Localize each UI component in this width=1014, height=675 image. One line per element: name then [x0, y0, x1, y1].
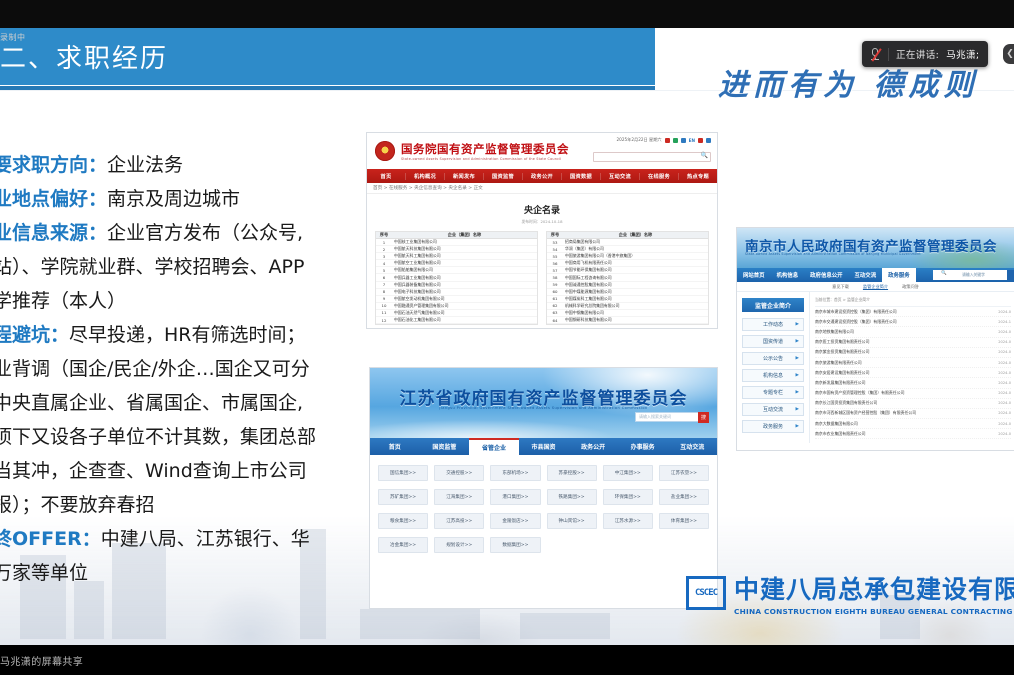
bullet-rest: 企业官方发布（公众号,: [107, 222, 303, 244]
enterprise-chip[interactable]: 铁路集团>>: [547, 489, 597, 505]
bullet-rest: 为中央直属企业、省属国企、市属国企,: [0, 392, 303, 414]
table-row: 8中国电子科技集团有限公司: [376, 289, 537, 296]
bullet-line: 为中央直属企业、省属国企、市属国企,: [0, 386, 374, 420]
cell-name: 中国中煤能源集团有限公司: [563, 289, 708, 295]
mic-muted-icon[interactable]: [870, 47, 881, 62]
bullet-rest: 尽早投递，HR有筛选时间；: [69, 324, 306, 346]
slide-title-bar: 二、求职经历: [0, 28, 655, 85]
cell-name: 中国诚通控股集团有限公司: [563, 282, 708, 288]
nanjing-banner: 南京市人民政府国有资产监督管理委员会 State-owned Assets Su…: [737, 228, 1014, 268]
enterprise-chip[interactable]: 东部机场>>: [490, 465, 540, 481]
cell-name: 中国核工业集团有限公司: [392, 239, 537, 245]
sasac-title-cn: 国务院国有资产监督管理委员会: [401, 141, 569, 157]
list-item[interactable]: 南京市河西新城区国有资产经营控股（集团）有限责任公司2024-0: [815, 409, 1011, 419]
bullet-lead: 就业信息来源：: [0, 222, 107, 244]
enterprise-chip[interactable]: 中江集团>>: [603, 465, 653, 481]
bullet-line: 其项下又设各子单位不计其数，集团总部: [0, 420, 374, 454]
enterprise-chip[interactable]: 钟山宾馆>>: [547, 513, 597, 529]
list-item[interactable]: 南京长江国资投资集团有限责任公司2024-0: [815, 399, 1011, 409]
sidebar-item-label: 公示公告: [763, 355, 783, 362]
cell-index: 60: [547, 289, 563, 294]
table-row: 62机械科学研究总院集团有限公司: [547, 303, 708, 310]
bullet-lead: 就业地点偏好：: [0, 188, 107, 210]
bullet-line: 主要求职方向：企业法务: [0, 148, 374, 182]
list-item-date: 2024-0: [996, 391, 1011, 395]
cell-name: 中国钢研科技集团有限公司: [563, 317, 708, 323]
sidebar-item[interactable]: 国资传道▶: [742, 335, 804, 348]
table-row: 6中国兵器工业集团有限公司: [376, 274, 537, 281]
list-item-title: 南京医工投资集团有限责任公司: [815, 339, 996, 345]
bullet-rest: 润万家等单位: [0, 562, 88, 584]
list-item-title: 南京旅游集团有限责任公司: [815, 360, 996, 366]
list-item[interactable]: 南京市交通建设投资控股（集团）有限责任公司2024-1: [815, 317, 1011, 327]
bullet-rest: 年报）；不要放弃春招: [0, 494, 155, 516]
cell-name: 中国旅游集团有限公司（香港中旅集团）: [563, 253, 708, 259]
bullet-rest: 企业法务: [107, 154, 183, 176]
table-row: 12中国石油化工集团有限公司: [376, 317, 537, 324]
speaking-label: 正在讲话:: [896, 47, 939, 61]
cell-index: 55: [547, 254, 563, 259]
cell-index: 62: [547, 303, 563, 308]
nanjing-nav[interactable]: 网站首页 机构信息 政府信息公开 互动交流 政务服务 🔍 请输入关键字: [737, 268, 1014, 282]
cell-index: 6: [376, 275, 392, 280]
sidebar-item-label: 国资传道: [763, 338, 783, 345]
table-row: 63中国中钢集团有限公司: [547, 310, 708, 317]
list-item-date: 2024-0: [996, 371, 1011, 375]
search-submit-button[interactable]: [1007, 270, 1014, 280]
list-item-title: 南京市国有资产投资管理控股（集团）有限责任公司: [815, 390, 996, 396]
sasac-title-en: State-owned Assets Supervision and Admin…: [401, 157, 569, 161]
cell-index: 11: [376, 310, 392, 315]
table-row: 60中国中煤能源集团有限公司: [547, 289, 708, 296]
cscec-logo-icon: CSCEC: [686, 576, 726, 610]
cell-index: 5: [376, 268, 392, 273]
list-item-title: 南京新发展集团有限责任公司: [815, 380, 996, 386]
active-speaker-pill: 正在讲话: 马兆潇;: [862, 41, 988, 67]
chevron-right-icon: ▶: [796, 407, 799, 412]
list-item-date: 2024-0: [996, 432, 1011, 436]
enterprise-chip[interactable]: 江苏农垦>>: [659, 465, 709, 481]
enterprise-chip[interactable]: 港口集团>>: [490, 489, 540, 505]
enterprise-chip[interactable]: 数据集团>>: [490, 537, 540, 553]
cell-index: 61: [547, 296, 563, 301]
cell-index: 1: [376, 240, 392, 245]
search-icon: 🔍: [935, 271, 953, 276]
nanjing-sublink[interactable]: 意见下载: [832, 284, 849, 290]
cell-name: 中国煤炭科工集团有限公司: [563, 296, 708, 302]
bullet-line: 过程避坑：尽早投递，HR有筛选时间；: [0, 318, 374, 352]
enterprise-chip[interactable]: 金陵饭店>>: [490, 513, 540, 529]
list-item[interactable]: 南京地铁集团有限公司2024-0: [815, 327, 1011, 337]
cell-name: 华润（集团）有限公司: [563, 246, 708, 252]
bullet-lead: 过程避坑：: [0, 324, 69, 346]
cell-index: 58: [547, 275, 563, 280]
list-item[interactable]: 南京紫金投资集团有限责任公司2024-0: [815, 348, 1011, 358]
list-item-date: 2024-0: [996, 350, 1011, 354]
nanjing-nav-item[interactable]: 政府信息公开: [804, 268, 848, 282]
cell-index: 12: [376, 318, 392, 323]
search-button[interactable]: 搜: [698, 412, 709, 423]
cell-name: 中国电子科技集团有限公司: [392, 289, 537, 295]
screenshot-jiangsu-sasac: 江苏省政府国有资产监督管理委员会 Jiangsu Provincial Gove…: [370, 368, 717, 608]
list-item-title: 南京紫金投资集团有限责任公司: [815, 349, 996, 355]
list-item-title: 南京市农业集团有限责任公司: [815, 431, 996, 437]
sidebar-item-label: 互动交流: [763, 406, 783, 413]
enterprise-chip[interactable]: 体育集团>>: [659, 513, 709, 529]
cell-index: 3: [376, 254, 392, 259]
bullet-lead: 主要求职方向：: [0, 154, 107, 176]
table-row: 61中国煤炭科工集团有限公司: [547, 296, 708, 303]
list-item-title: 南京地铁集团有限公司: [815, 329, 996, 335]
cell-index: 56: [547, 261, 563, 266]
cell-name: 中国石油天然气集团有限公司: [392, 310, 537, 316]
enterprise-chip[interactable]: 规划设计>>: [434, 537, 484, 553]
list-item-date: 2024-0: [996, 330, 1011, 334]
bullet-line: 年报）；不要放弃春招: [0, 488, 374, 522]
cell-name: 招商局集团有限公司: [563, 239, 708, 245]
chevron-right-icon: ▶: [796, 339, 799, 344]
cell-index: 7: [376, 282, 392, 287]
sasac-nav-item[interactable]: 热点专题: [679, 173, 717, 180]
table-row: 5中国船舶集团有限公司: [376, 267, 537, 274]
bullet-rest: 其项下又设各子单位不计其数，集团总部: [0, 426, 316, 448]
sidebar-item-label: 机构信息: [763, 372, 783, 379]
chevron-right-icon: ▶: [796, 356, 799, 361]
table-row: 3中国航天科工集团有限公司: [376, 253, 537, 260]
bullet-rest: 首当其冲，企查查、Wind查询上市公司: [0, 460, 307, 482]
bullet-line: 最终OFFER：中建八局、江苏银行、华: [0, 522, 374, 556]
list-item-date: 2024-0: [996, 340, 1011, 344]
nanjing-nav-item-active[interactable]: 政务服务: [882, 268, 916, 282]
jiangsu-title-en: Jiangsu Provincial Government State-owne…: [370, 406, 717, 410]
cscec-name-cn: 中建八局总承包建设有限公司: [734, 570, 1014, 606]
bullet-line: 润万家等单位: [0, 556, 374, 590]
jiangsu-nav[interactable]: 首页 国资监管 省管企业 市县国资 政务公开 办事服务 互动交流: [370, 438, 717, 455]
list-item-date: 2024-0: [996, 422, 1011, 426]
table-header: 序号 企业（集团）名称: [376, 232, 537, 239]
enterprise-chip[interactable]: 盐业集团>>: [659, 489, 709, 505]
chevron-right-icon: ▶: [796, 322, 799, 327]
table-header: 序号 企业（集团）名称: [547, 232, 708, 239]
table-row: 4中国航空工业集团有限公司: [376, 260, 537, 267]
search-placeholder: 请输入关键字: [953, 272, 991, 278]
bullet-line: 就业信息来源：企业官方发布（公众号,: [0, 216, 374, 250]
bullet-rest: 企业背调（国企/民企/外企…国企又可分: [0, 358, 310, 380]
enterprise-chip[interactable]: 粮食集团>>: [378, 513, 428, 529]
shared-slide-viewport: 二、求职经历 进而有为 德成则 主要求职方向：企业法务 就业地点偏好：南京及周边…: [0, 28, 1014, 645]
table-row: 10中国融通资产管理集团有限公司: [376, 303, 537, 310]
list-item-date: 2024-0: [996, 310, 1011, 314]
sasac-doc-title: 央企名录: [367, 203, 717, 216]
cell-name: 中国商用飞机有限责任公司: [563, 260, 708, 266]
speaker-name: 马兆潇;: [946, 47, 979, 61]
central-enterprise-table-right: 序号 企业（集团）名称 53招商局集团有限公司 54华润（集团）有限公司 55中…: [546, 231, 709, 325]
cell-name: 中国融通资产管理集团有限公司: [392, 303, 537, 309]
nanjing-sublink[interactable]: 政策问答: [902, 284, 919, 290]
breadcrumb: 当前位置：首页 > 监管企业简介: [815, 297, 1011, 307]
accessibility-icon[interactable]: [706, 138, 711, 143]
cell-index: 4: [376, 261, 392, 266]
list-item-title: 南京大数据集团有限公司: [815, 421, 996, 427]
sidebar-header: 监管企业简介: [742, 298, 804, 312]
bullet-rest: 网站）、学院就业群、学校招聘会、APP: [0, 256, 304, 278]
jiangsu-nav-item[interactable]: 办事服务: [618, 438, 668, 455]
enterprise-chip[interactable]: 环保集团>>: [603, 489, 653, 505]
nanjing-nav-item[interactable]: 机构信息: [771, 268, 805, 282]
national-emblem-icon: [375, 141, 395, 161]
bullet-line: 就业地点偏好：南京及周边城市: [0, 182, 374, 216]
list-item-date: 2024-1: [996, 320, 1011, 324]
enterprise-chip[interactable]: 苏矿集团>>: [378, 489, 428, 505]
jiangsu-nav-item[interactable]: 市县国资: [519, 438, 569, 455]
sasac-nav-item[interactable]: 机构概况: [406, 173, 445, 180]
sasac-nav-item[interactable]: 国资数据: [562, 173, 601, 180]
sidebar-item[interactable]: 政务服务▶: [742, 420, 804, 433]
list-item-title: 南京安居建设集团有限责任公司: [815, 370, 996, 376]
chevron-right-icon: ▶: [796, 390, 799, 395]
screenshot-nanjing-sasac: 南京市人民政府国有资产监督管理委员会 State-owned Assets Su…: [737, 228, 1014, 450]
table-row: 2中国航天科技集团有限公司: [376, 246, 537, 253]
cell-index: 54: [547, 247, 563, 252]
weibo-icon[interactable]: [673, 138, 678, 143]
nanjing-sublinks: 意见下载 监管企业简介 政策问答: [737, 282, 1014, 292]
table-row: 1中国核工业集团有限公司: [376, 239, 537, 246]
app-icon[interactable]: [681, 138, 686, 143]
jiangsu-nav-item[interactable]: 政务公开: [568, 438, 618, 455]
cell-name: 中国航空发动机集团有限公司: [392, 296, 537, 302]
cell-name: 中国国际工程咨询有限公司: [563, 275, 708, 281]
column-header-name: 企业（集团）名称: [563, 232, 708, 238]
jiangsu-banner: 江苏省政府国有资产监督管理委员会 Jiangsu Provincial Gove…: [370, 368, 717, 438]
meeting-window: 二、求职经历 进而有为 德成则 主要求职方向：企业法务 就业地点偏好：南京及周边…: [0, 0, 1014, 675]
list-item-title: 南京市河西新城区国有资产经营控股（集团）有限责任公司: [815, 410, 996, 416]
enterprise-chip[interactable]: 江苏高投>>: [434, 513, 484, 529]
breadcrumb: 首页 > 在线服务 > 央企信息查询 > 央企名录 > 正文: [367, 183, 717, 194]
list-item-title: 南京市城市建设投资控股（集团）有限责任公司: [815, 309, 996, 315]
list-item[interactable]: 南京旅游集团有限责任公司2024-0: [815, 358, 1011, 368]
cell-index: 64: [547, 318, 563, 323]
cscec-name-en: CHINA CONSTRUCTION EIGHTH BUREAU GENERAL…: [734, 607, 1014, 616]
list-item[interactable]: 南京市农业集团有限责任公司2024-0: [815, 429, 1011, 439]
column-header-index: 序号: [376, 232, 392, 238]
cell-index: 53: [547, 240, 563, 245]
bullet-lead: 最终OFFER：: [0, 528, 101, 550]
table-row: 64中国钢研科技集团有限公司: [547, 317, 708, 324]
sasac-nav-item[interactable]: 新闻发布: [445, 173, 484, 180]
bullet-line: 网站）、学院就业群、学校招聘会、APP: [0, 250, 374, 284]
chevron-right-icon: ▶: [796, 424, 799, 429]
column-header-name: 企业（集团）名称: [392, 232, 537, 238]
calligraphy-banner: 进而有为 德成则: [718, 60, 1014, 108]
search-placeholder: 请输入搜索关键词: [636, 414, 671, 420]
sidebar-item[interactable]: 公示公告▶: [742, 352, 804, 365]
cell-name: 机械科学研究总院集团有限公司: [563, 303, 708, 309]
screen-share-footer: 马兆潇的屏幕共享: [0, 645, 1014, 675]
sidebar-item-label: 政务服务: [763, 423, 783, 430]
cell-name: 中国兵器装备集团有限公司: [392, 282, 537, 288]
bullet-line: 同学推荐（本人）: [0, 284, 374, 318]
table-row: 53招商局集团有限公司: [547, 239, 708, 246]
enterprise-chip[interactable]: 江海集团>>: [434, 489, 484, 505]
table-row: 59中国诚通控股集团有限公司: [547, 282, 708, 289]
share-footer-label: 马兆潇的屏幕共享: [0, 653, 83, 668]
cscec-company-band: CSCEC 中建八局总承包建设有限公司 CHINA CONSTRUCTION E…: [686, 567, 1014, 619]
bullet-line: 企业背调（国企/民企/外企…国企又可分: [0, 352, 374, 386]
cell-name: 中国中钢集团有限公司: [563, 310, 708, 316]
nanjing-title-en: State-owned Assets Supervision and Admin…: [745, 252, 921, 256]
jiangsu-nav-item-active[interactable]: 省管企业: [469, 438, 519, 455]
table-row: 11中国石油天然气集团有限公司: [376, 310, 537, 317]
table-row: 7中国兵器装备集团有限公司: [376, 282, 537, 289]
sasac-nav-item[interactable]: 互动交流: [601, 173, 640, 180]
sidebar-item-label: 专题专栏: [763, 389, 783, 396]
sasac-nav-item[interactable]: 政务公开: [523, 173, 562, 180]
screenshot-sasac-central-enterprise-list: 国务院国有资产监督管理委员会 State-owned Assets Superv…: [367, 133, 717, 328]
cell-name: 中国航天科技集团有限公司: [392, 246, 537, 252]
cell-index: 57: [547, 268, 563, 273]
list-item-date: 2024-0: [996, 411, 1011, 415]
sasac-date: 2025年2月22日 星期六: [617, 137, 662, 143]
sasac-nav-item[interactable]: 在线服务: [640, 173, 679, 180]
list-item[interactable]: 南京大数据集团有限公司2024-0: [815, 419, 1011, 429]
table-row: 54华润（集团）有限公司: [547, 246, 708, 253]
collapse-panel-button[interactable]: ❮: [1003, 44, 1014, 64]
cell-name: 中国石油化工集团有限公司: [392, 317, 537, 323]
bullet-rest: 中建八局、江苏银行、华: [101, 528, 310, 550]
jiangsu-enterprise-chip-grid: 国信集团>> 交通控股>> 东部机场>> 苏豪控股>> 中江集团>> 江苏农垦>…: [370, 455, 717, 563]
jiangsu-nav-item-home[interactable]: 首页: [370, 438, 420, 455]
sidebar-item-label: 工作动态: [763, 321, 783, 328]
cell-index: 10: [376, 303, 392, 308]
language-toggle[interactable]: EN: [689, 138, 695, 143]
page-title: 二、求职经历: [0, 38, 168, 75]
column-header-index: 序号: [547, 232, 563, 238]
list-item-date: 2024-0: [996, 361, 1011, 365]
table-row: 55中国旅游集团有限公司（香港中旅集团）: [547, 253, 708, 260]
cell-name: 中国船舶集团有限公司: [392, 267, 537, 273]
cell-name: 中国节能环保集团有限公司: [563, 267, 708, 273]
list-item-date: 2024-0: [996, 381, 1011, 385]
enterprise-chip[interactable]: 江苏水源>>: [603, 513, 653, 529]
cell-name: 中国航天科工集团有限公司: [392, 253, 537, 259]
sasac-nav-item[interactable]: 国资监管: [484, 173, 523, 180]
cell-name: 中国兵器工业集团有限公司: [392, 275, 537, 281]
nanjing-nav-item[interactable]: 互动交流: [849, 268, 883, 282]
sidebar-item[interactable]: 互动交流▶: [742, 403, 804, 416]
pill-divider: [888, 48, 889, 61]
jiangsu-nav-item[interactable]: 国资监管: [420, 438, 470, 455]
bullet-rest: 南京及周边城市: [107, 188, 240, 210]
cell-name: 中国航空工业集团有限公司: [392, 260, 537, 266]
nanjing-sidebar: 监管企业简介 工作动态▶ 国资传道▶ 公示公告▶ 机构信息▶ 专题专栏▶ 互动交…: [737, 292, 809, 443]
sasac-nav[interactable]: 首页 机构概况 新闻发布 国资监管 政务公开 国资数据 互动交流 在线服务 热点…: [367, 169, 717, 183]
nanjing-search-box[interactable]: 🔍 请输入关键字: [933, 270, 1011, 280]
sasac-nav-item[interactable]: 首页: [367, 173, 406, 180]
nanjing-sublink-active[interactable]: 监管企业简介: [863, 284, 888, 290]
table-row: 57中国节能环保集团有限公司: [547, 267, 708, 274]
table-row: 56中国商用飞机有限责任公司: [547, 260, 708, 267]
bullet-rest: 同学推荐（本人）: [0, 290, 126, 312]
sidebar-item[interactable]: 机构信息▶: [742, 369, 804, 382]
mail-icon[interactable]: [698, 138, 703, 143]
enterprise-chip[interactable]: 冶金集团>>: [378, 537, 428, 553]
sasac-header: 国务院国有资产监督管理委员会 State-owned Assets Superv…: [367, 133, 717, 169]
table-row: 9中国航空发动机集团有限公司: [376, 296, 537, 303]
list-item[interactable]: 南京市城市建设投资控股（集团）有限责任公司2024-0: [815, 307, 1011, 317]
list-item[interactable]: 南京市国有资产投资管理控股（集团）有限责任公司2024-0: [815, 389, 1011, 399]
wechat-icon[interactable]: [665, 138, 670, 143]
sidebar-item[interactable]: 专题专栏▶: [742, 386, 804, 399]
sidebar-item[interactable]: 工作动态▶: [742, 318, 804, 331]
chevron-right-icon: ▶: [796, 373, 799, 378]
list-item[interactable]: 南京医工投资集团有限责任公司2024-0: [815, 338, 1011, 348]
central-enterprise-table-left: 序号 企业（集团）名称 1中国核工业集团有限公司 2中国航天科技集团有限公司 3…: [375, 231, 538, 325]
cell-index: 59: [547, 282, 563, 287]
sasac-header-meta: 2025年2月22日 星期六 EN: [617, 137, 711, 143]
enterprise-chip[interactable]: 交通控股>>: [434, 465, 484, 481]
jiangsu-search-box[interactable]: 请输入搜索关键词 搜: [635, 412, 709, 422]
bullet-line: 首当其冲，企查查、Wind查询上市公司: [0, 454, 374, 488]
list-item[interactable]: 南京安居建设集团有限责任公司2024-0: [815, 368, 1011, 378]
cell-index: 9: [376, 296, 392, 301]
cell-index: 2: [376, 247, 392, 252]
cell-index: 63: [547, 310, 563, 315]
nanjing-nav-item-home[interactable]: 网站首页: [737, 268, 771, 282]
table-row: 58中国国际工程咨询有限公司: [547, 274, 708, 281]
list-item-date: 2024-0: [996, 401, 1011, 405]
cell-index: 8: [376, 289, 392, 294]
list-item[interactable]: 南京新发展集团有限责任公司2024-0: [815, 378, 1011, 388]
enterprise-chip[interactable]: 国信集团>>: [378, 465, 428, 481]
list-item-title: 南京市交通建设投资控股（集团）有限责任公司: [815, 319, 996, 325]
slide-bullet-list: 主要求职方向：企业法务 就业地点偏好：南京及周边城市 就业信息来源：企业官方发布…: [0, 148, 374, 590]
sasac-search-input[interactable]: [593, 152, 711, 162]
jiangsu-nav-item[interactable]: 互动交流: [667, 438, 717, 455]
nanjing-content: 当前位置：首页 > 监管企业简介 南京市城市建设投资控股（集团）有限责任公司20…: [809, 292, 1014, 443]
enterprise-chip[interactable]: 苏豪控股>>: [547, 465, 597, 481]
list-item-title: 南京长江国资投资集团有限责任公司: [815, 400, 996, 406]
recording-indicator: 录制中: [0, 32, 26, 43]
